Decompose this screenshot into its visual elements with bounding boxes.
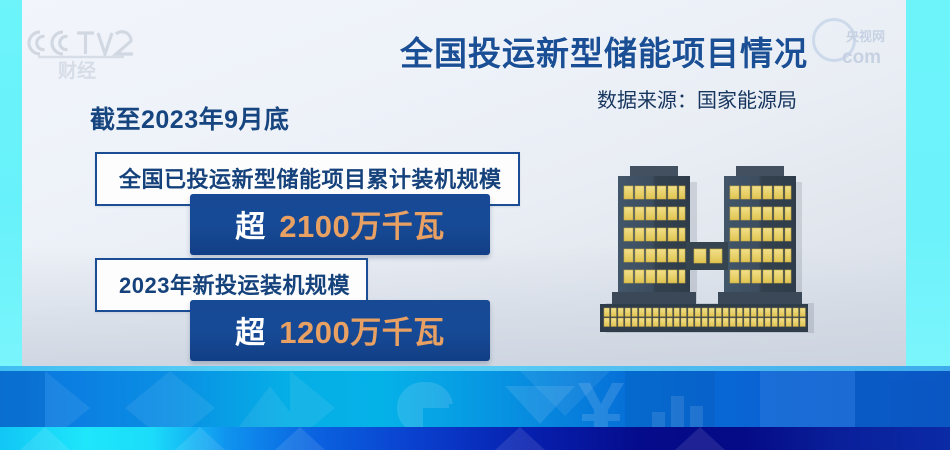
broadcast-graphic-screen: 财经 全国投运新型储能项目情况 数据来源：国家能源局 央视网 com 截至202… <box>0 0 950 450</box>
stat-value-pill: 超1200万千瓦 <box>190 300 490 361</box>
stat-value-pill: 超2100万千瓦 <box>190 194 490 255</box>
left-cyan-edge-strip <box>0 0 22 366</box>
right-cyan-edge-strip <box>906 0 950 366</box>
stat-amount: 1200万千瓦 <box>279 315 444 350</box>
stat-amount: 2100万千瓦 <box>279 209 444 244</box>
stat-prefix: 超 <box>235 317 266 350</box>
logo-sub-text: 财经 <box>58 59 96 80</box>
as-of-date: 截至2023年9月底 <box>90 100 290 136</box>
page-title: 全国投运新型储能项目情况 <box>400 27 808 75</box>
bottom-decorative-banner <box>0 366 950 450</box>
tower-bridge <box>686 242 728 270</box>
stat-block-new-2023: 2023年新投运装机规模 超1200万千瓦 <box>95 258 490 361</box>
stat-block-cumulative: 全国已投运新型储能项目累计装机规模 超2100万千瓦 <box>95 152 520 255</box>
stat-prefix: 超 <box>235 211 266 244</box>
cctv2-channel-logo: 财经 <box>22 18 142 80</box>
data-source-subtitle: 数据来源：国家能源局 <box>597 84 797 113</box>
office-buildings-illustration <box>598 160 838 340</box>
banner-bottom-pattern <box>0 427 950 450</box>
